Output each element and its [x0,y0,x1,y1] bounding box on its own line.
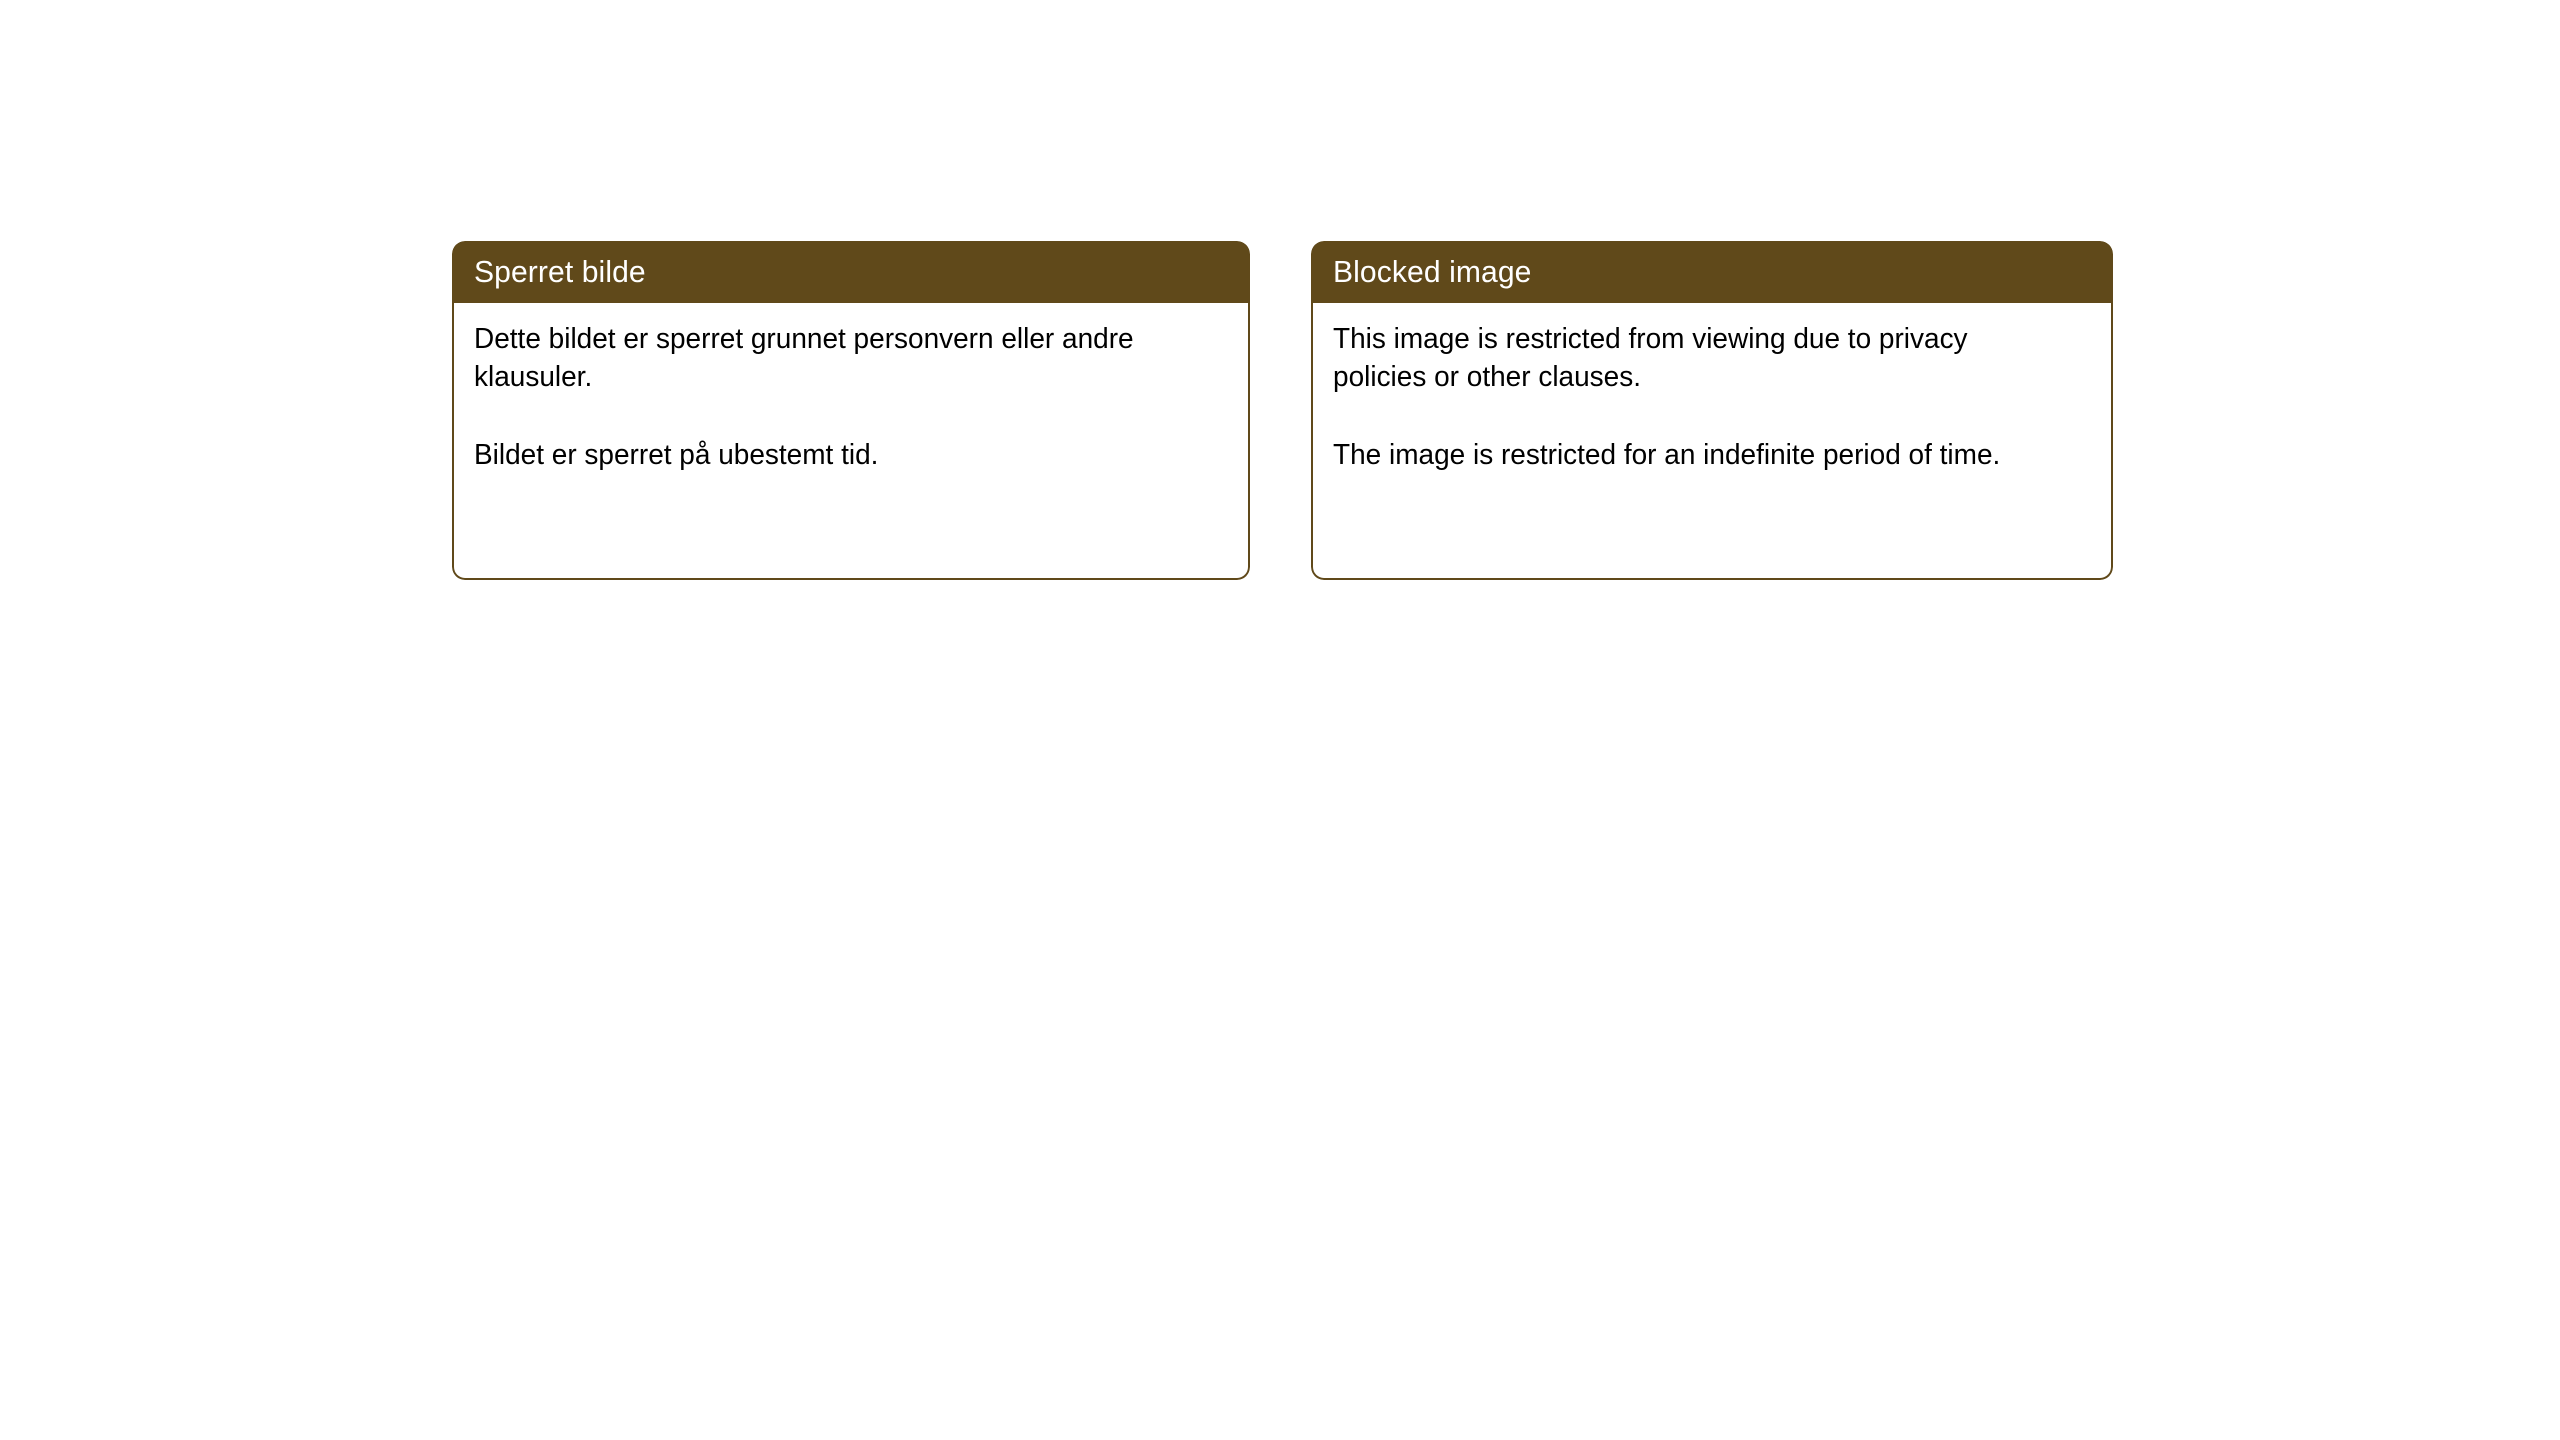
blocked-image-card-english: Blocked image This image is restricted f… [1311,241,2113,580]
blocked-image-card-norwegian: Sperret bilde Dette bildet er sperret gr… [452,241,1250,580]
card-body-norwegian: Dette bildet er sperret grunnet personve… [452,303,1250,580]
card-paragraph-norwegian-1: Dette bildet er sperret grunnet personve… [474,320,1202,396]
card-paragraph-norwegian-2: Bildet er sperret på ubestemt tid. [474,436,1202,474]
card-title-english: Blocked image [1333,255,1532,289]
blocked-image-notice-row: Sperret bilde Dette bildet er sperret gr… [452,241,2113,580]
card-header-english: Blocked image [1311,241,2113,303]
card-body-english: This image is restricted from viewing du… [1311,303,2113,580]
card-paragraph-english-1: This image is restricted from viewing du… [1333,320,2064,396]
card-header-norwegian: Sperret bilde [452,241,1250,303]
card-paragraph-english-2: The image is restricted for an indefinit… [1333,436,2064,474]
card-title-norwegian: Sperret bilde [474,255,646,289]
